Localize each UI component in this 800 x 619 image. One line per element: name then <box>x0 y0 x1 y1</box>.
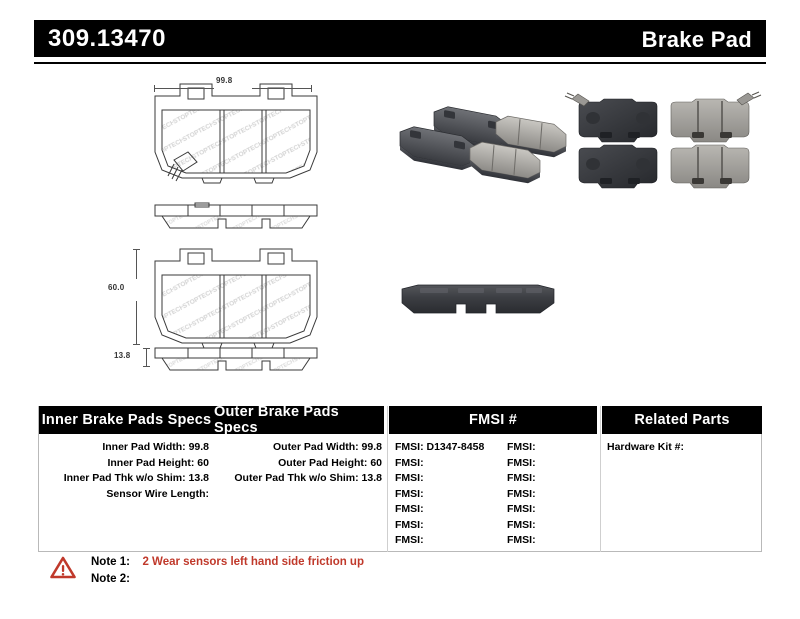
drawing-inner-pad-front-view: 99.8 STOPTECH <box>150 78 322 190</box>
dim-line-thickness <box>146 348 147 366</box>
outer-specs-list: Outer Pad Width: 99.8 Outer Pad Height: … <box>214 434 382 487</box>
fmsi-row: FMSI: FMSI: <box>395 487 607 503</box>
fmsi-entry-right: FMSI: <box>507 456 607 472</box>
inner-spec-item: Sensor Wire Length: <box>39 487 209 503</box>
note-2-row: Note 2: <box>91 569 138 587</box>
photo-brake-pad-edge <box>400 283 556 325</box>
fmsi-row: FMSI: D1347-8458 FMSI: <box>395 440 607 456</box>
outer-spec-item: Outer Pad Height: 60 <box>214 456 382 472</box>
related-parts-list: Hardware Kit #: <box>607 434 757 456</box>
dim-tick-bottom <box>133 344 140 345</box>
fmsi-entry-left: FMSI: <box>395 502 507 518</box>
drawing-outer-pad-front-view: 60.0 <box>150 245 322 353</box>
photo-brake-pad-set-angled <box>398 92 570 184</box>
fmsi-row: FMSI: FMSI: <box>395 456 607 472</box>
note-1-label: Note 1: <box>91 556 138 568</box>
inner-pad-edge-svg: STOPTECH <box>150 202 322 234</box>
note-2-label: Note 2: <box>91 573 138 585</box>
fmsi-row: FMSI: FMSI: <box>395 518 607 534</box>
outer-pad-edge-svg <box>150 345 322 375</box>
note-1-row: Note 1: 2 Wear sensors left hand side fr… <box>91 552 364 570</box>
dim-label-width-top: 99.8 <box>216 76 232 85</box>
dim-line-height-bottom <box>136 301 137 345</box>
fmsi-entry-left: FMSI: <box>395 533 507 549</box>
fmsi-entry-right: FMSI: <box>507 487 607 503</box>
fmsi-entry-left: FMSI: <box>395 487 507 503</box>
fmsi-entry-left: FMSI: <box>395 471 507 487</box>
column-header-fmsi: FMSI # <box>389 406 597 434</box>
specs-table: Inner Brake Pads Specs Outer Brake Pads … <box>38 406 762 552</box>
dim-tick-left <box>154 85 155 92</box>
dim-tick-thk-top <box>143 348 150 349</box>
fmsi-entry-left: FMSI: <box>395 518 507 534</box>
dim-line-width-left <box>154 88 214 89</box>
dim-line-height-top <box>136 249 137 279</box>
fmsi-entry-right: FMSI: <box>507 502 607 518</box>
note-1-text: 2 Wear sensors left hand side friction u… <box>142 556 364 568</box>
divider-fmsi-left <box>387 406 388 552</box>
column-header-related-parts: Related Parts <box>602 406 762 434</box>
fmsi-entry-left: FMSI: D1347-8458 <box>395 440 507 456</box>
inner-spec-item: Inner Pad Thk w/o Shim: 13.8 <box>39 471 209 487</box>
inner-pad-outline-svg: STOPTECH <box>150 78 322 190</box>
inner-specs-list: Inner Pad Width: 99.8 Inner Pad Height: … <box>39 434 209 502</box>
product-type-title: Brake Pad <box>642 27 752 53</box>
fmsi-list: FMSI: D1347-8458 FMSI: FMSI: FMSI: FMSI:… <box>395 434 607 549</box>
fmsi-entry-right: FMSI: <box>507 533 607 549</box>
fmsi-entry-right: FMSI: <box>507 518 607 534</box>
dim-tick-right <box>311 85 312 92</box>
dim-line-width-right <box>252 88 312 89</box>
fmsi-entry-left: FMSI: <box>395 456 507 472</box>
related-part-item: Hardware Kit #: <box>607 440 757 456</box>
fmsi-row: FMSI: FMSI: <box>395 502 607 518</box>
drawing-inner-pad-edge-view: STOPTECH <box>150 202 322 234</box>
fmsi-row: FMSI: FMSI: <box>395 533 607 549</box>
inner-spec-item: Inner Pad Width: 99.8 <box>39 440 209 456</box>
inner-spec-item: Inner Pad Height: 60 <box>39 456 209 472</box>
fmsi-entry-right: FMSI: <box>507 471 607 487</box>
dim-label-thickness: 13.8 <box>114 351 130 360</box>
fmsi-entry-right: FMSI: <box>507 440 607 456</box>
photo-brake-pad-set-topdown <box>572 88 758 192</box>
warning-triangle-icon <box>50 556 76 579</box>
dim-tick-thk-bottom <box>143 366 150 367</box>
column-header-outer-specs: Outer Brake Pads Specs <box>214 406 384 434</box>
outer-pad-outline-svg <box>150 245 322 353</box>
header-divider <box>34 62 766 64</box>
fmsi-row: FMSI: FMSI: <box>395 471 607 487</box>
drawing-outer-pad-edge-view: 13.8 <box>150 345 322 375</box>
column-header-inner-specs: Inner Brake Pads Specs <box>39 406 214 434</box>
dim-tick-top <box>133 249 140 250</box>
dim-label-height: 60.0 <box>108 283 124 292</box>
part-number: 309.13470 <box>48 26 166 52</box>
outer-spec-item: Outer Pad Width: 99.8 <box>214 440 382 456</box>
outer-spec-item: Outer Pad Thk w/o Shim: 13.8 <box>214 471 382 487</box>
